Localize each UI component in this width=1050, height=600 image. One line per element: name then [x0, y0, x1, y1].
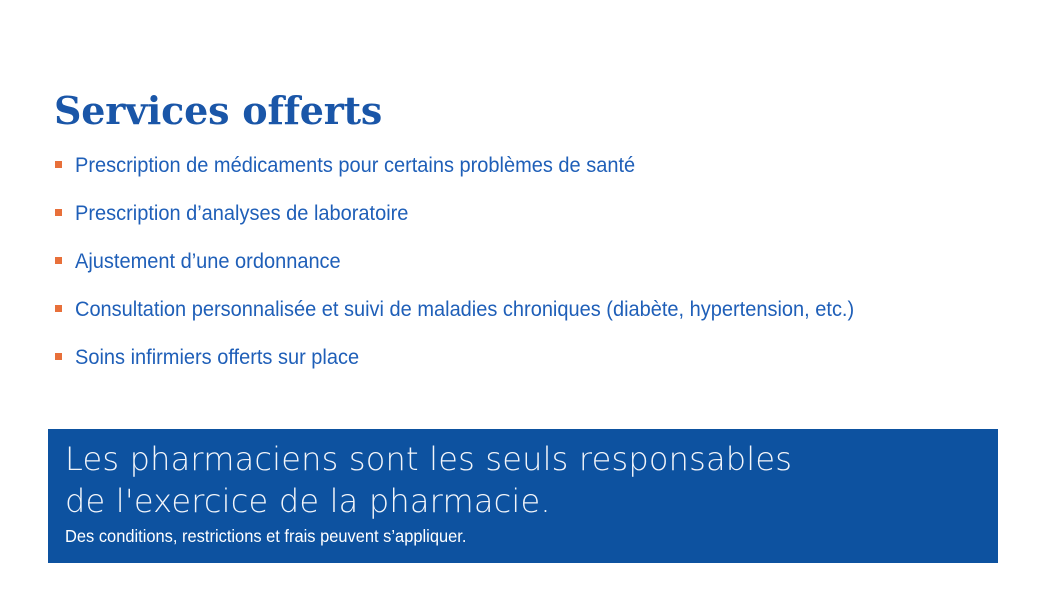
list-item: Soins infirmiers offerts sur place [54, 333, 1034, 381]
list-item-label: Prescription d’analyses de laboratoire [75, 200, 408, 226]
square-bullet-icon [55, 305, 62, 312]
list-item-label: Prescription de médicaments pour certain… [75, 152, 635, 178]
callout-headline-line-2: de l'exercice de la pharmacie. [65, 480, 982, 522]
callout-headline-line-1: Les pharmaciens sont les seuls responsab… [65, 438, 982, 480]
square-bullet-icon [55, 209, 62, 216]
list-item-label: Soins infirmiers offerts sur place [75, 344, 359, 370]
slide-canvas: Services offerts Prescription de médicam… [0, 0, 1050, 600]
list-item: Consultation personnalisée et suivi de m… [54, 285, 1034, 333]
callout-banner: Les pharmaciens sont les seuls responsab… [48, 429, 998, 563]
list-item: Prescription d’analyses de laboratoire [54, 189, 1034, 237]
page-title: Services offerts [54, 87, 382, 135]
list-item-label: Ajustement d’une ordonnance [75, 248, 341, 274]
list-item: Prescription de médicaments pour certain… [54, 141, 1034, 189]
callout-fineprint: Des conditions, restrictions et frais pe… [65, 525, 927, 547]
list-item-label: Consultation personnalisée et suivi de m… [75, 296, 854, 322]
square-bullet-icon [55, 353, 62, 360]
square-bullet-icon [55, 161, 62, 168]
list-item: Ajustement d’une ordonnance [54, 237, 1034, 285]
services-bullet-list: Prescription de médicaments pour certain… [54, 141, 1034, 381]
square-bullet-icon [55, 257, 62, 264]
